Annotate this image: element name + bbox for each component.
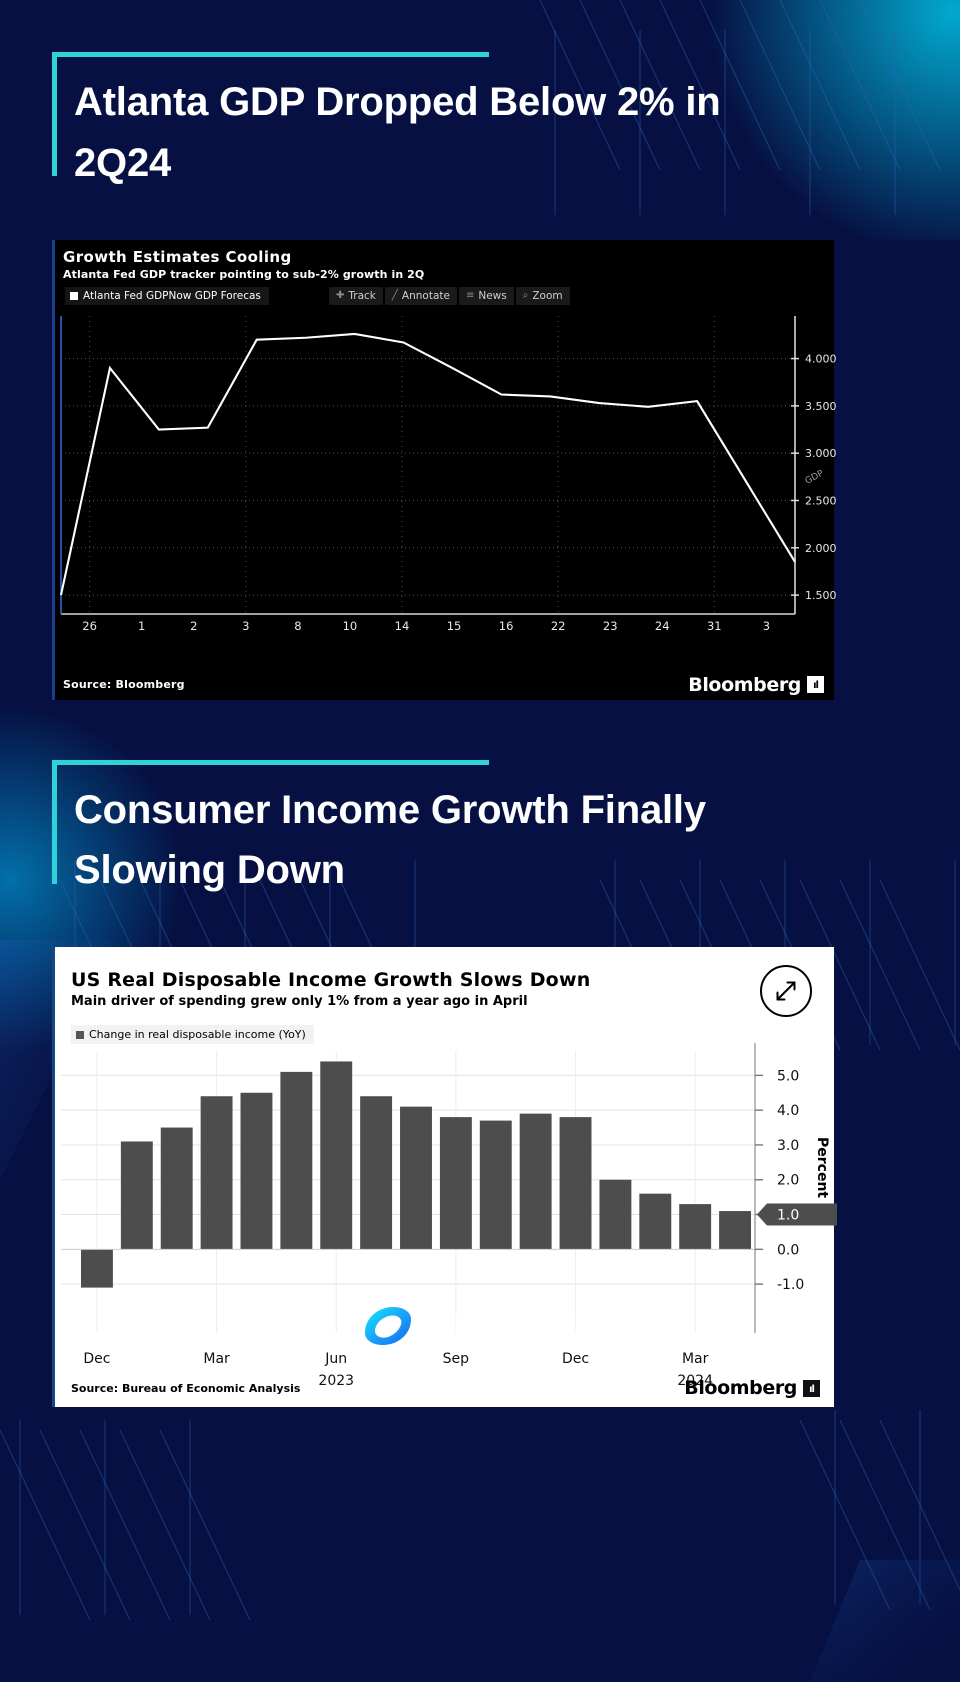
headline-accent-left-2: [52, 760, 57, 884]
chart2-bar: [320, 1062, 352, 1250]
chart2-bar: [201, 1096, 233, 1249]
chart1-source: Source: Bloomberg: [63, 678, 185, 691]
expand-button[interactable]: [760, 965, 812, 1017]
track-button[interactable]: ✚ Track: [329, 287, 383, 305]
legend-swatch-icon: [70, 292, 78, 300]
bloomberg-wordmark: Bloomberg: [684, 1377, 797, 1399]
bloomberg-logo-1: Bloomberg ıl: [688, 674, 824, 696]
headline-accent-top: [52, 52, 489, 57]
chart1-y-tick: 2.000: [805, 541, 837, 554]
chart2-bar: [360, 1096, 392, 1249]
chart2-y-tick: -1.0: [777, 1277, 804, 1293]
chart1-x-tick: 16: [499, 619, 514, 633]
chart1-x-tick: 15: [447, 619, 462, 633]
chart1-x-tick: 26: [82, 619, 97, 633]
chart2-plot: 5.04.03.02.01.00.0-1.0 1.0: [55, 1043, 837, 1343]
chart2-bar: [520, 1114, 552, 1250]
chart2-x-tick: Sep: [443, 1351, 470, 1367]
chart1-legend[interactable]: Atlanta Fed GDPNow GDP Forecas: [65, 287, 269, 305]
chart1-x-tick: 23: [603, 619, 618, 633]
chart1-month-label: Apr 2024: [59, 635, 112, 636]
chart1-month-label: Jun 2024: [714, 635, 766, 636]
chart2-bar: [639, 1194, 671, 1250]
chart-atlanta-gdpnow: Growth Estimates Cooling Atlanta Fed GDP…: [52, 240, 834, 700]
chart1-legend-label: Atlanta Fed GDPNow GDP Forecas: [83, 290, 261, 302]
chart1-x-tick: 3: [763, 619, 770, 633]
magnifier-icon: ⌕: [523, 290, 529, 301]
chart2-bar: [280, 1072, 312, 1249]
chart1-x-tick: 22: [551, 619, 566, 633]
chart1-x-tick: 1: [138, 619, 145, 633]
signalplus-wordmark: SignalPlus: [431, 1307, 601, 1346]
news-button[interactable]: ≡ News: [459, 287, 514, 305]
chart2-x-tick: Mar: [682, 1351, 709, 1367]
annotate-label: Annotate: [402, 290, 450, 302]
chart2-x-tick: Jun: [324, 1351, 347, 1367]
chart1-y-tick: 3.000: [805, 447, 837, 460]
expand-arrows-icon: [774, 979, 798, 1003]
chart2-bar: [161, 1128, 193, 1250]
signalplus-brand: SignalPlus: [0, 1303, 960, 1349]
chart2-source: Source: Bureau of Economic Analysis: [71, 1382, 300, 1395]
chart1-plot: 4.0003.5003.0002.5002.0001.500 261238101…: [55, 314, 837, 636]
chart1-x-tick: 14: [395, 619, 410, 633]
chart1-toolbar-row: Atlanta Fed GDPNow GDP Forecas ✚ Track ╱…: [55, 287, 834, 307]
bloomberg-wordmark: Bloomberg: [688, 674, 801, 696]
page-title-1: Atlanta GDP Dropped Below 2% in 2Q24: [74, 52, 774, 194]
chart1-y-tick: 1.500: [805, 589, 837, 602]
chart1-month-label: May 2024: [405, 635, 462, 636]
legend-swatch-icon: [76, 1031, 84, 1039]
headline-accent-top-2: [52, 760, 489, 765]
crosshair-icon: ✚: [336, 290, 344, 301]
chart1-y-tick: 4.000: [805, 352, 837, 365]
chart2-bar: [599, 1180, 631, 1250]
chart1-title: Growth Estimates Cooling: [55, 240, 834, 266]
chart2-bar: [679, 1204, 711, 1249]
pencil-icon: ╱: [392, 290, 398, 301]
headline-accent-left: [52, 52, 57, 176]
chart2-y-tick: 5.0: [777, 1069, 799, 1085]
zoom-label: Zoom: [532, 290, 562, 302]
chart1-side-note: GDP: [804, 468, 826, 486]
page-title-2: Consumer Income Growth Finally Slowing D…: [74, 760, 774, 902]
chart2-y-tick: 0.0: [777, 1243, 799, 1259]
chart1-x-tick: 2: [190, 619, 197, 633]
chart2-legend[interactable]: Change in real disposable income (YoY): [71, 1025, 314, 1044]
chart2-title: US Real Disposable Income Growth Slows D…: [55, 947, 834, 991]
chart2-bar: [719, 1211, 751, 1249]
chart2-x-tick: Dec: [562, 1351, 589, 1367]
list-icon: ≡: [466, 290, 474, 301]
chart2-footer: Source: Bureau of Economic Analysis Bloo…: [55, 1377, 834, 1399]
chart2-bar: [81, 1250, 113, 1288]
chart1-x-tick: 10: [343, 619, 358, 633]
bloomberg-logo-2: Bloomberg ıl: [684, 1377, 820, 1399]
chart2-x-tick: Dec: [83, 1351, 110, 1367]
chart2-x-tick: Mar: [203, 1351, 230, 1367]
chart2-y-tick: 2.0: [777, 1173, 799, 1189]
zoom-button[interactable]: ⌕ Zoom: [516, 287, 570, 305]
chart2-bar: [241, 1093, 273, 1250]
chart1-x-tick: 3: [242, 619, 249, 633]
bloomberg-mark-icon: ıl: [803, 1380, 820, 1397]
track-label: Track: [348, 290, 375, 302]
headline-block-1: Atlanta GDP Dropped Below 2% in 2Q24: [0, 0, 960, 194]
bloomberg-mark-icon: ıl: [807, 676, 824, 693]
chart2-bar: [121, 1142, 153, 1250]
chart2-current-value-label: 1.0: [777, 1208, 799, 1224]
chart1-y-tick: 3.500: [805, 399, 837, 412]
chart2-y-tick: 3.0: [777, 1138, 799, 1154]
chart1-tools: ✚ Track ╱ Annotate ≡ News ⌕ Zoom: [329, 287, 570, 305]
chart1-x-tick: 8: [294, 619, 301, 633]
chart2-y-axis-label: Percent: [814, 1137, 830, 1198]
chart2-legend-label: Change in real disposable income (YoY): [89, 1028, 306, 1041]
news-label: News: [478, 290, 506, 302]
chart2-bar: [560, 1117, 592, 1249]
chart2-bar: [400, 1107, 432, 1250]
signalplus-logo-icon: [359, 1303, 417, 1349]
chart2-bar: [480, 1121, 512, 1250]
chart2-subtitle: Main driver of spending grew only 1% fro…: [55, 991, 834, 1009]
annotate-button[interactable]: ╱ Annotate: [385, 287, 457, 305]
chart1-x-tick: 31: [707, 619, 722, 633]
chart1-x-tick: 24: [655, 619, 670, 633]
chart2-bar: [440, 1117, 472, 1249]
chart2-y-tick: 4.0: [777, 1103, 799, 1119]
chart1-subtitle: Atlanta Fed GDP tracker pointing to sub-…: [55, 266, 834, 281]
chart1-footer: Source: Bloomberg Bloomberg ıl: [55, 670, 834, 700]
chart1-y-tick: 2.500: [805, 494, 837, 507]
headline-block-2: Consumer Income Growth Finally Slowing D…: [0, 700, 960, 902]
